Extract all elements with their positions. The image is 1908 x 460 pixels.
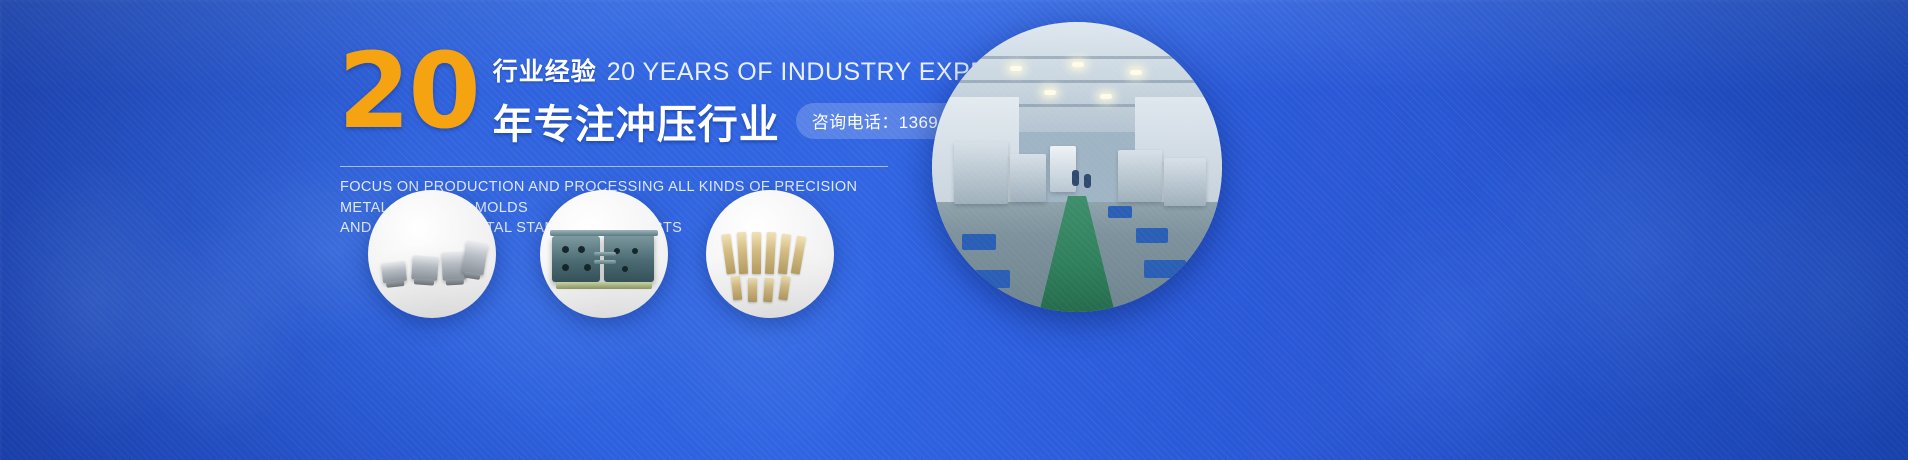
metal-pin xyxy=(748,278,757,302)
cn-tagline-small: 行业经验 xyxy=(493,52,597,88)
metal-pin xyxy=(791,236,806,275)
cn-tagline-big: 年专注冲压行业 xyxy=(493,92,780,150)
blue-crate xyxy=(1136,228,1168,243)
machine xyxy=(1118,150,1162,202)
mold-hole xyxy=(632,248,638,254)
metal-pin xyxy=(765,232,776,274)
machine xyxy=(1010,154,1046,202)
ceiling-lamp xyxy=(1044,90,1056,95)
ceiling-lamp xyxy=(1100,94,1112,99)
mold-block xyxy=(552,236,600,282)
metal-pin xyxy=(778,234,791,275)
worker xyxy=(1072,170,1079,186)
product-circle-pins[interactable] xyxy=(706,190,834,318)
metal-pin xyxy=(752,232,761,274)
connector-part xyxy=(411,255,439,281)
mold-hole xyxy=(562,264,569,271)
mold-pin-row xyxy=(594,260,616,264)
connector-part xyxy=(381,261,407,283)
product-circle-mold[interactable] xyxy=(540,190,668,318)
factory-workshop-photo[interactable] xyxy=(932,22,1222,312)
connector-part xyxy=(462,240,489,275)
blue-crate xyxy=(966,270,1010,288)
metal-pin xyxy=(721,234,735,275)
mold-hole xyxy=(578,246,585,253)
ceiling-beam xyxy=(932,56,1222,59)
blue-crate xyxy=(1108,206,1132,218)
machine xyxy=(954,142,1008,204)
metal-pin xyxy=(778,275,790,300)
mold-rail xyxy=(550,230,658,236)
mold-pin-row xyxy=(594,252,616,256)
years-number: 20 xyxy=(338,44,479,140)
mold-hole xyxy=(562,246,569,253)
hero-banner: 20 行业经验 20 YEARS OF INDUSTRY EXPERIENCE … xyxy=(0,0,1908,460)
blue-crate xyxy=(962,234,996,250)
product-circle-connectors[interactable] xyxy=(368,190,496,318)
mold-base xyxy=(556,282,652,289)
divider-line xyxy=(340,166,888,167)
worker xyxy=(1084,174,1091,188)
metal-pin xyxy=(731,276,742,301)
metal-pin xyxy=(763,278,774,303)
mold-hole xyxy=(584,264,591,271)
mold-block xyxy=(604,234,654,282)
ceiling-lamp xyxy=(1010,66,1022,71)
headline-row: 20 行业经验 20 YEARS OF INDUSTRY EXPERIENCE … xyxy=(338,40,898,150)
blue-crate xyxy=(1144,260,1186,278)
metal-pin xyxy=(737,232,748,274)
ceiling-lamp xyxy=(1130,70,1142,75)
mold-hole xyxy=(622,266,628,272)
ceiling-lamp xyxy=(1072,62,1084,67)
machine xyxy=(1164,158,1206,206)
ceiling-beam xyxy=(932,80,1222,83)
